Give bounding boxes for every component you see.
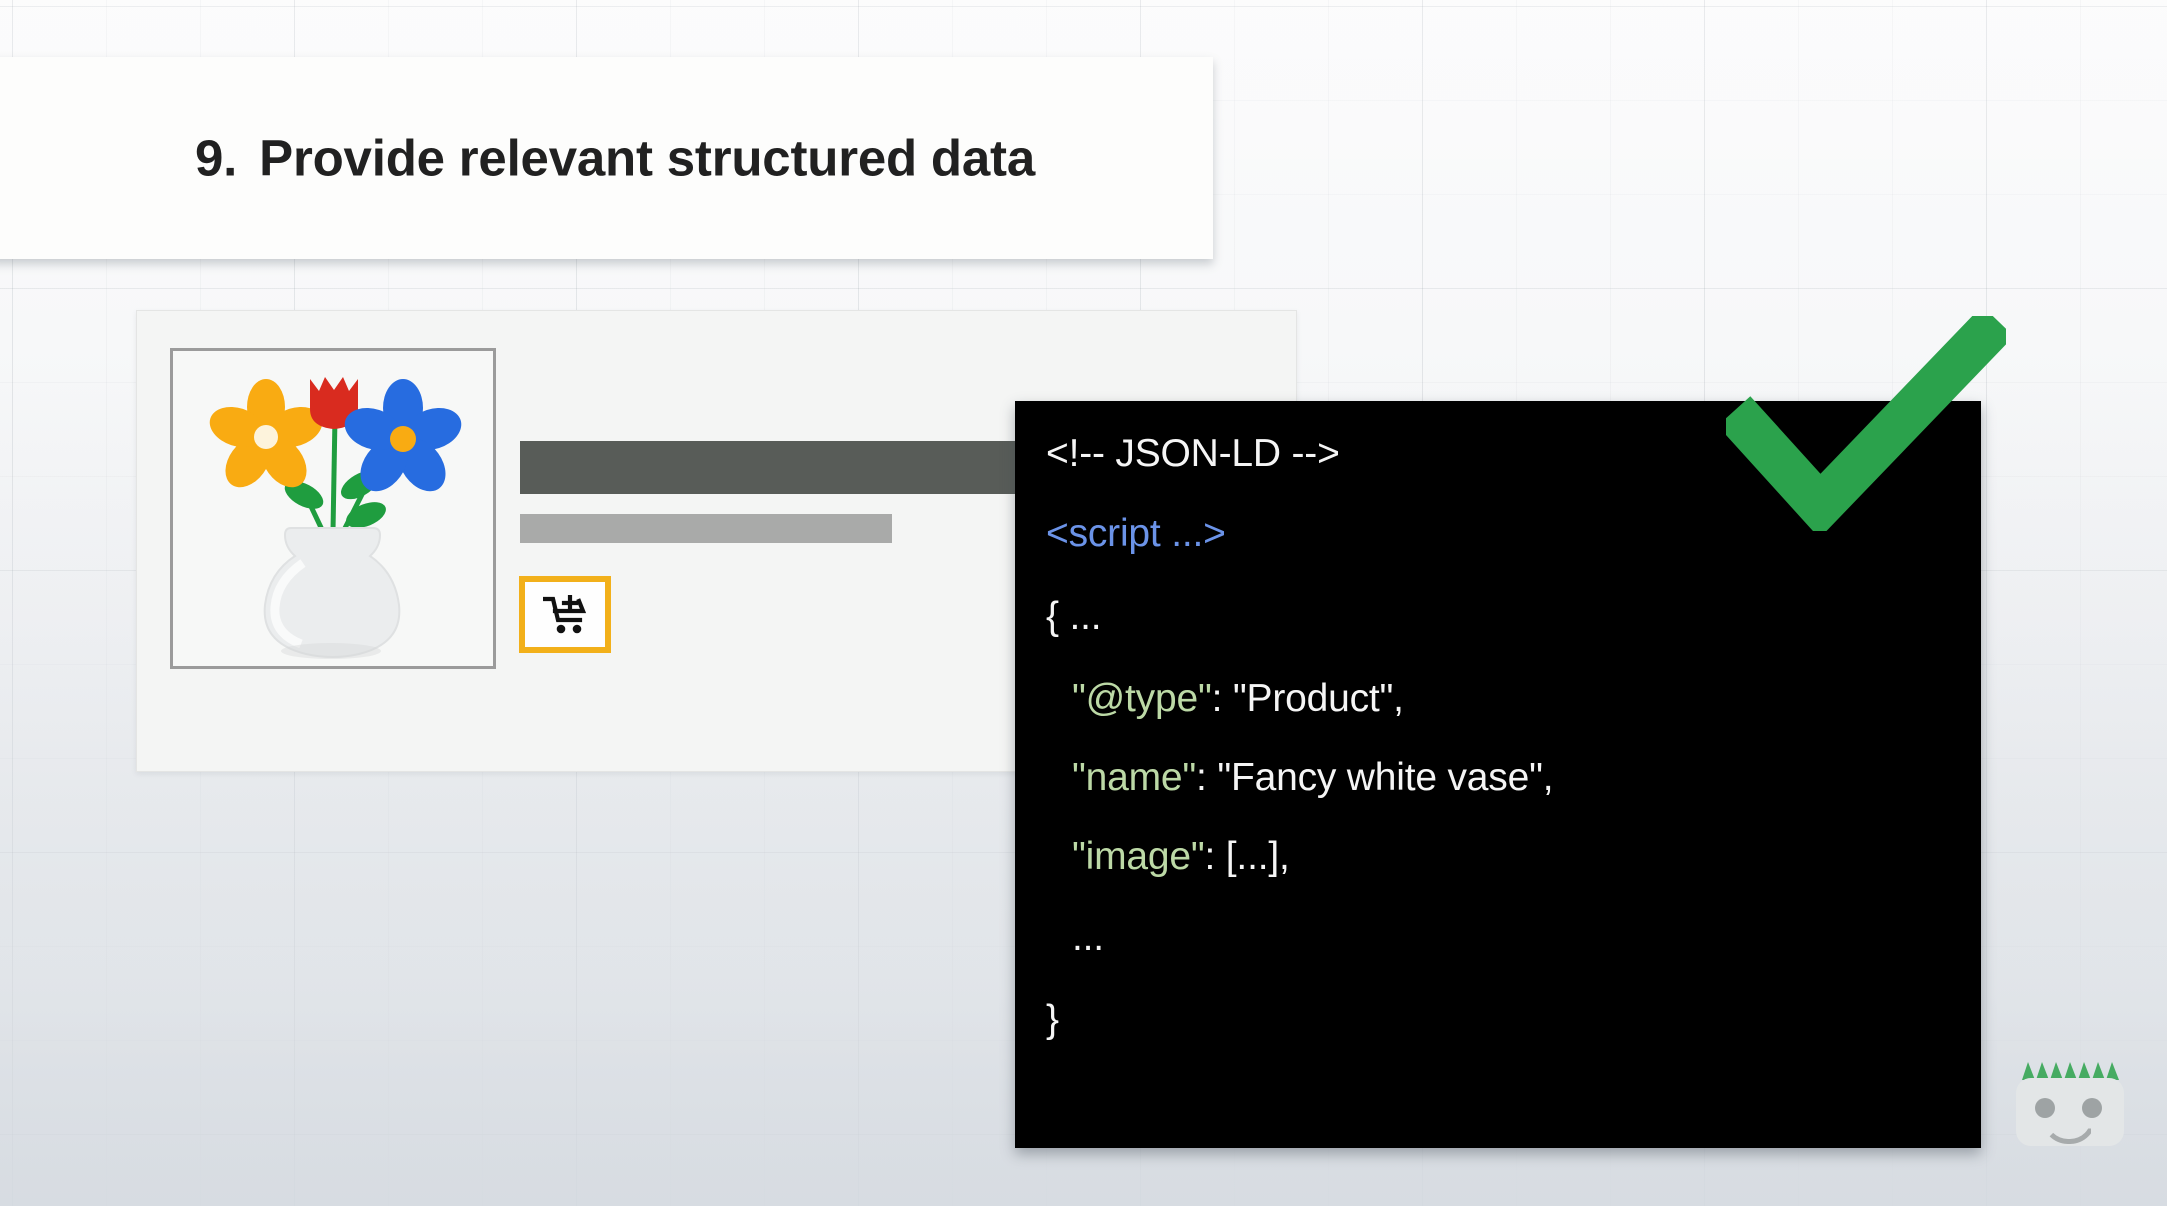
slide-canvas: 9.Provide relevant structured data xyxy=(0,0,2167,1206)
json-ld-code-panel: <!-- JSON-LD --> <script ...> { ... "@ty… xyxy=(1015,401,1981,1148)
add-to-cart-button[interactable] xyxy=(519,576,611,653)
add-to-cart-icon xyxy=(543,595,587,635)
mascot-smile xyxy=(2042,1118,2096,1144)
mascot-eye-left xyxy=(2035,1098,2055,1118)
code-line-ellipsis: ... xyxy=(1072,918,1104,957)
title-number: 9. xyxy=(195,129,237,188)
code-line-comment: <!-- JSON-LD --> xyxy=(1046,434,1340,473)
page-title: 9.Provide relevant structured data xyxy=(195,129,1035,188)
code-key-type: "@type" xyxy=(1072,677,1212,720)
code-line-open-brace: { ... xyxy=(1046,597,1101,636)
code-value-name: "Fancy white vase", xyxy=(1217,756,1553,799)
code-line-image: "image": [...], xyxy=(1072,837,1290,876)
robot-face-mascot xyxy=(2016,1078,2124,1146)
code-line-script-tag: <script ...> xyxy=(1046,514,1226,553)
code-sep-image: : xyxy=(1205,835,1226,878)
mascot-spikes-icon xyxy=(2022,1060,2119,1080)
code-key-image: "image" xyxy=(1072,835,1205,878)
code-key-name: "name" xyxy=(1072,756,1196,799)
mascot-head xyxy=(2016,1078,2124,1146)
product-subtitle-placeholder xyxy=(520,514,892,543)
code-line-type: "@type": "Product", xyxy=(1072,679,1404,718)
code-sep-type: : xyxy=(1212,677,1233,720)
code-sep-name: : xyxy=(1196,756,1217,799)
code-value-image: [...], xyxy=(1226,835,1290,878)
code-line-name: "name": "Fancy white vase", xyxy=(1072,758,1553,797)
code-line-close-brace: } xyxy=(1046,1000,1059,1039)
product-image-frame xyxy=(170,348,496,669)
mascot-eye-right xyxy=(2082,1098,2102,1118)
title-card: 9.Provide relevant structured data xyxy=(0,57,1213,259)
title-label: Provide relevant structured data xyxy=(259,130,1035,187)
code-value-type: "Product", xyxy=(1233,677,1404,720)
bouquet-of-flowers-in-white-vase-icon xyxy=(173,351,493,666)
